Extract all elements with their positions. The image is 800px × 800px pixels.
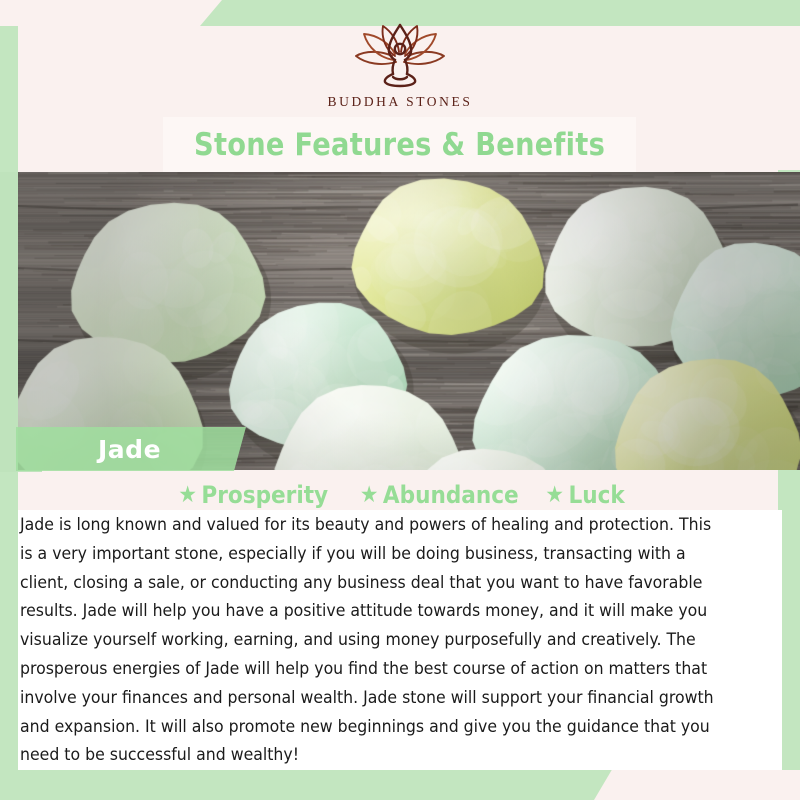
page-title: Stone Features & Benefits xyxy=(194,127,605,163)
title-banner: Stone Features & Benefits xyxy=(163,117,636,172)
benefit-item-2: ★ Luck xyxy=(546,481,625,509)
benefits-row: ★ Prosperity ★ Abundance ★ Luck xyxy=(0,479,800,511)
stone-photo-canvas xyxy=(18,172,800,470)
star-icon: ★ xyxy=(179,484,198,507)
brand-logo-block: BUDDHA STONES xyxy=(0,22,800,110)
stone-info-card: BUDDHA STONES Stone Features & Benefits … xyxy=(0,0,800,800)
stone-name-label: Jade xyxy=(98,435,161,464)
brand-wordmark: BUDDHA STONES xyxy=(328,94,473,110)
benefit-label: Luck xyxy=(569,481,625,509)
benefit-label: Abundance xyxy=(383,481,519,509)
benefit-item-0: ★ Prosperity xyxy=(179,481,329,509)
lotus-meditation-icon xyxy=(352,22,448,88)
star-icon: ★ xyxy=(360,484,379,507)
stone-name-bar: Jade xyxy=(16,427,246,471)
benefit-label: Prosperity xyxy=(202,481,329,509)
benefit-item-1: ★ Abundance xyxy=(360,481,519,509)
star-icon: ★ xyxy=(546,484,565,507)
description-text: Jade is long known and valued for its be… xyxy=(20,511,725,770)
stone-photo xyxy=(18,172,800,470)
